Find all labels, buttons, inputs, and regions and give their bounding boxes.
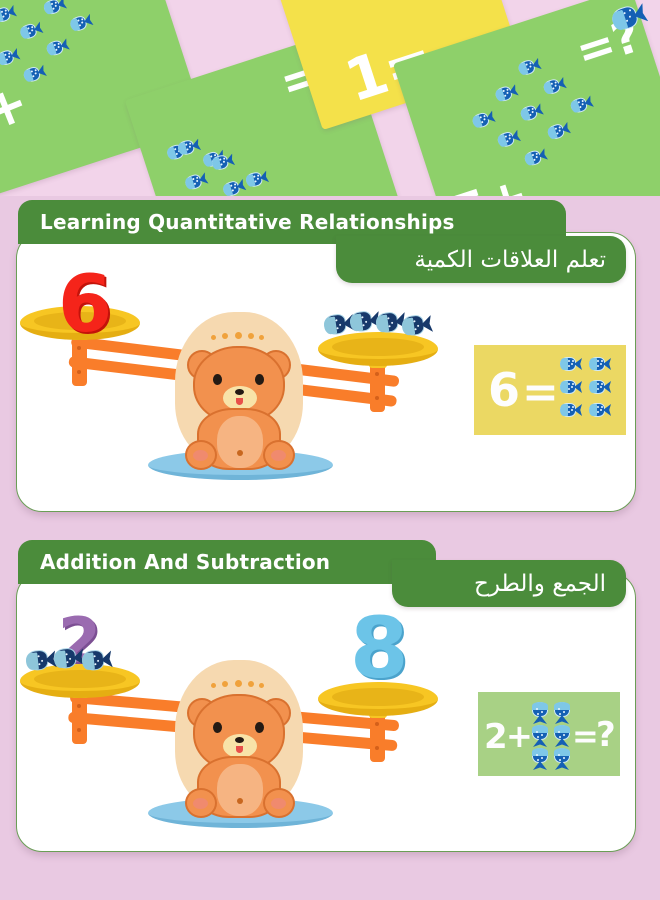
bear-eye-right [255,722,264,733]
equation-result: ? [596,718,616,752]
equation-card-two-plus: 2 + [478,692,620,776]
banner-tile-label: 5+ [447,169,533,196]
scale-pan-right [318,332,438,366]
product-photo-banner: 5+ = =? 1= 5+ [0,0,660,196]
wooden-digit-eight: 8 [350,606,408,690]
section-title-en: Addition And Subtraction [40,550,330,574]
equation-equals: = [572,720,599,752]
section-title-ar: تعلم العلاقات الكمية [414,247,606,273]
equation-operator: = [522,371,559,415]
section-title-en: Learning Quantitative Relationships [40,210,455,234]
wooden-digit-six: 6 [58,266,112,344]
product-detail-page: 5+ = =? 1= 5+ [0,0,660,900]
balance-scale-section-2: 2 8 [20,602,460,832]
equation-number: 2 [484,720,508,754]
bear-eye-right [255,374,264,385]
balance-scale-section-1: 6 [20,270,460,495]
equation-card-six: 6 = [474,345,626,435]
section-header-arabic-1: تعلم العلاقات الكمية [336,236,626,283]
section-header-arabic-2: الجمع والطرح [392,560,626,607]
bear-eye-left [213,374,222,385]
bear-figure [175,660,303,812]
banner-tile-label: 5+ [0,76,35,153]
bear-eye-left [213,722,222,733]
section-header-english-2: Addition And Subtraction [18,540,436,584]
equation-operator: + [506,720,533,752]
equation-number: 6 [488,367,520,413]
section-title-ar: الجمع والطرح [474,571,606,597]
bear-figure [175,312,303,464]
